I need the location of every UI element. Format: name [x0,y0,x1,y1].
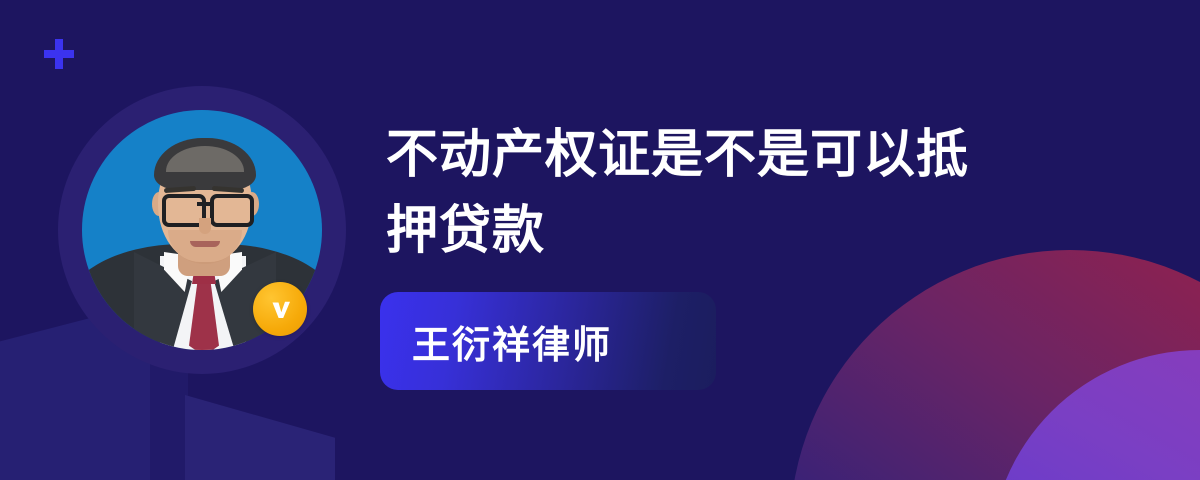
lawyer-name-label: 王衍祥律师 [380,314,612,369]
lawyer-name-badge[interactable]: 王衍祥律师 [380,292,716,390]
portrait-nose [199,218,211,234]
portrait-mouth [190,241,220,247]
portrait-glasses-right-lens [210,194,254,227]
page-title: 不动产权证是不是可以抵 押贷款 [386,117,1086,269]
decorative-gradient-circle-outer [790,250,1200,480]
decorative-gradient-circle-inner [990,350,1200,480]
plus-icon-horizontal-bar [44,50,74,58]
decorative-column [150,360,188,480]
plus-icon [44,39,74,69]
avatar[interactable] [58,86,346,374]
verified-check-icon [253,282,307,336]
decorative-wedge [185,395,335,480]
lawyer-article-banner: 不动产权证是不是可以抵 押贷款 王衍祥律师 [0,0,1200,480]
portrait-glasses-bridge [197,202,211,206]
plus-icon-vertical-bar [55,39,63,69]
